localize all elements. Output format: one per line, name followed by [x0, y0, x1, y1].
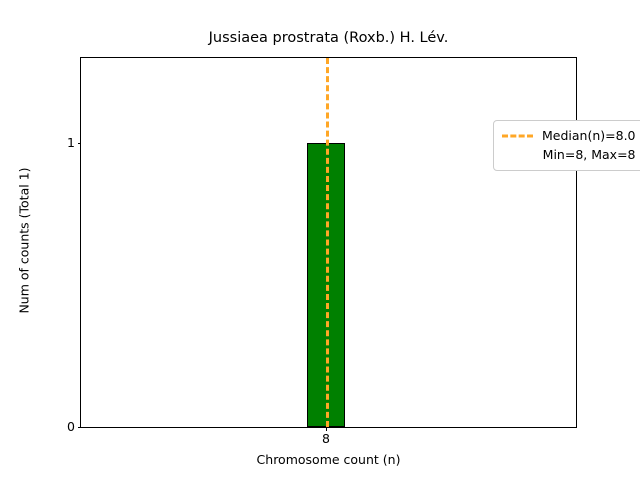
x-axis-label: Chromosome count (n) [80, 452, 577, 467]
ytick-mark [78, 427, 82, 428]
legend: Median(n)=8.0 Min=8, Max=8 [493, 120, 640, 171]
xtick-mark [326, 427, 327, 431]
y-axis-label: Num of counts (Total 1) [17, 91, 32, 391]
legend-label-median: Median(n)=8.0 [542, 128, 636, 143]
plot-axes: 0 1 8 Median(n)=8.0 Min=8, Max=8 [80, 57, 577, 428]
median-line [326, 58, 329, 427]
ytick-label-1: 1 [67, 136, 75, 149]
legend-entry-minmax: Min=8, Max=8 [502, 145, 636, 164]
plot-area [81, 58, 576, 427]
dashed-line-icon [502, 130, 533, 142]
chart-figure: Jussiaea prostrata (Roxb.) H. Lév. 0 1 8 [0, 0, 640, 480]
chart-title: Jussiaea prostrata (Roxb.) H. Lév. [80, 30, 577, 46]
ytick-label-0: 0 [67, 421, 75, 434]
legend-label-minmax: Min=8, Max=8 [543, 147, 636, 162]
ytick-mark [78, 143, 82, 144]
legend-entry-median: Median(n)=8.0 [502, 126, 636, 145]
xtick-label-8: 8 [322, 433, 330, 446]
